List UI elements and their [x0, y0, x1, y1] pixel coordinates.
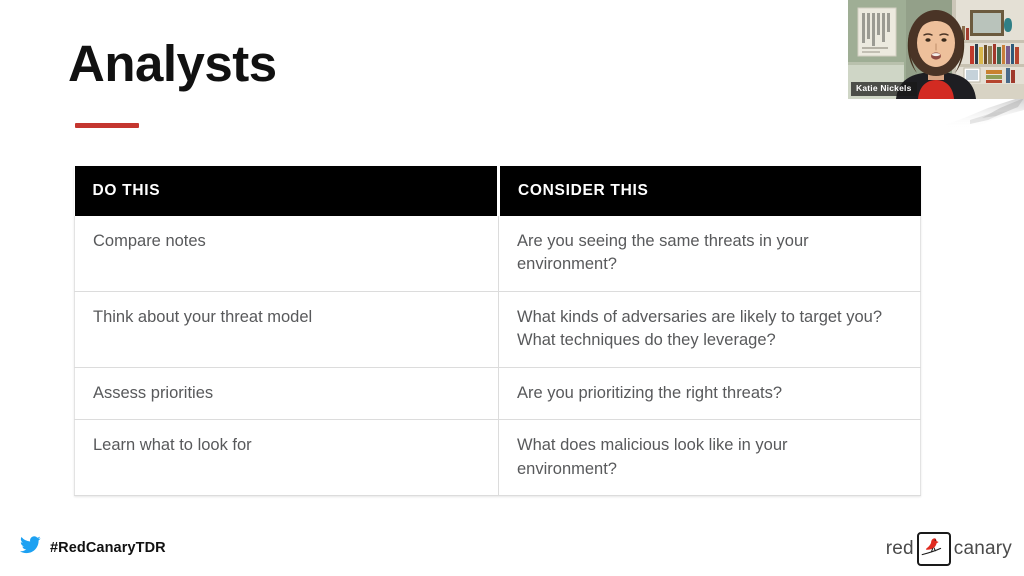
footer-hashtag: #RedCanaryTDR	[20, 536, 166, 559]
red-canary-logo: red canary	[886, 532, 1012, 566]
column-header-consider-this: CONSIDER THIS	[499, 166, 921, 216]
cell-do-this: Compare notes	[75, 216, 499, 291]
cell-consider-this: Are you prioritizing the right threats?	[499, 367, 921, 419]
cell-do-this: Think about your threat model	[75, 291, 499, 367]
presentation-slide: Analysts DO THIS CONSIDER THIS Compare n…	[0, 0, 1024, 576]
cell-do-this: Learn what to look for	[75, 420, 499, 496]
webcam-video-overlay[interactable]: Katie Nickels	[848, 0, 1024, 99]
twitter-bird-icon	[20, 536, 41, 559]
cell-do-this: Assess priorities	[75, 367, 499, 419]
table-row: Assess priorities Are you prioritizing t…	[75, 367, 921, 419]
logo-word-red: red	[886, 538, 914, 560]
logo-word-canary: canary	[954, 538, 1012, 560]
footer-hashtag-label: #RedCanaryTDR	[50, 540, 166, 556]
comparison-table: DO THIS CONSIDER THIS Compare notes Are …	[74, 166, 921, 496]
title-accent-bar	[75, 123, 139, 128]
cell-consider-this: Are you seeing the same threats in your …	[499, 216, 921, 291]
secondary-video-ghost	[930, 96, 1024, 142]
column-header-do-this: DO THIS	[75, 166, 499, 216]
table-row: Learn what to look for What does malicio…	[75, 420, 921, 496]
cell-consider-this: What kinds of adversaries are likely to …	[499, 291, 921, 367]
page-title: Analysts	[68, 38, 277, 89]
canary-bird-icon	[917, 532, 951, 566]
webcam-participant-name: Katie Nickels	[851, 82, 917, 96]
table-header-row: DO THIS CONSIDER THIS	[75, 166, 921, 216]
table-header: DO THIS CONSIDER THIS	[75, 166, 921, 216]
table-row: Think about your threat model What kinds…	[75, 291, 921, 367]
table-body: Compare notes Are you seeing the same th…	[75, 216, 921, 495]
table-row: Compare notes Are you seeing the same th…	[75, 216, 921, 291]
cell-consider-this: What does malicious look like in your en…	[499, 420, 921, 496]
